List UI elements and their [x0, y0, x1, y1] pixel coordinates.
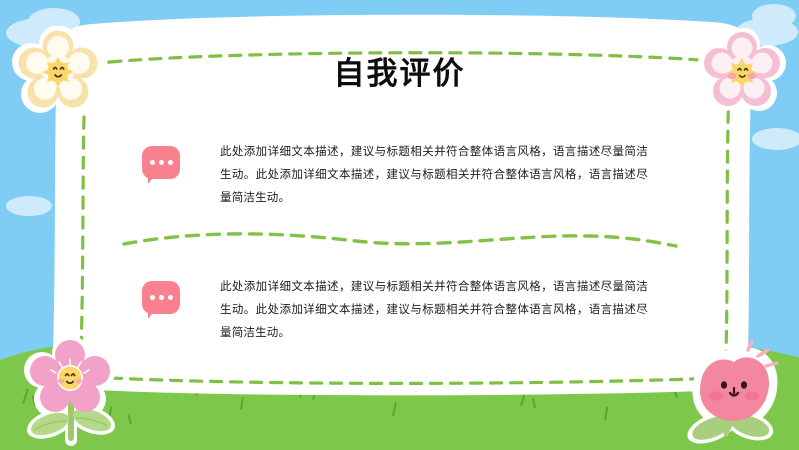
wavy-dashed-divider	[120, 224, 680, 256]
pink-blossom-top-right-icon	[698, 28, 786, 116]
chat-bubble-tail	[148, 175, 155, 184]
page-title: 自我评价	[0, 58, 799, 89]
content-row-2: 此处添加详细文本描述，建议与标题相关并符合整体语言风格，语言描述尽量简洁生动。此…	[140, 275, 660, 344]
content-row-1: 此处添加详细文本描述，建议与标题相关并符合整体语言风格，语言描述尽量简洁生动。此…	[140, 140, 660, 209]
pink-tulip-bottom-right-icon	[676, 336, 794, 450]
chat-bubble-tail	[148, 310, 155, 319]
chat-bubble-icon	[140, 144, 184, 192]
content-text-2: 此处添加详细文本描述，建议与标题相关并符合整体语言风格，语言描述尽量简洁生动。此…	[220, 275, 648, 344]
cream-sun-flower-top-left-icon	[12, 26, 104, 118]
slide-canvas: 自我评价 此处添加详细文本描述，建议与标题相关并符合整体语言风格，语言描述尽量简…	[0, 0, 799, 450]
content-text-1: 此处添加详细文本描述，建议与标题相关并符合整体语言风格，语言描述尽量简洁生动。此…	[220, 140, 648, 209]
pink-daisy-bottom-left-icon	[14, 336, 126, 450]
chat-bubble-icon	[140, 279, 184, 327]
